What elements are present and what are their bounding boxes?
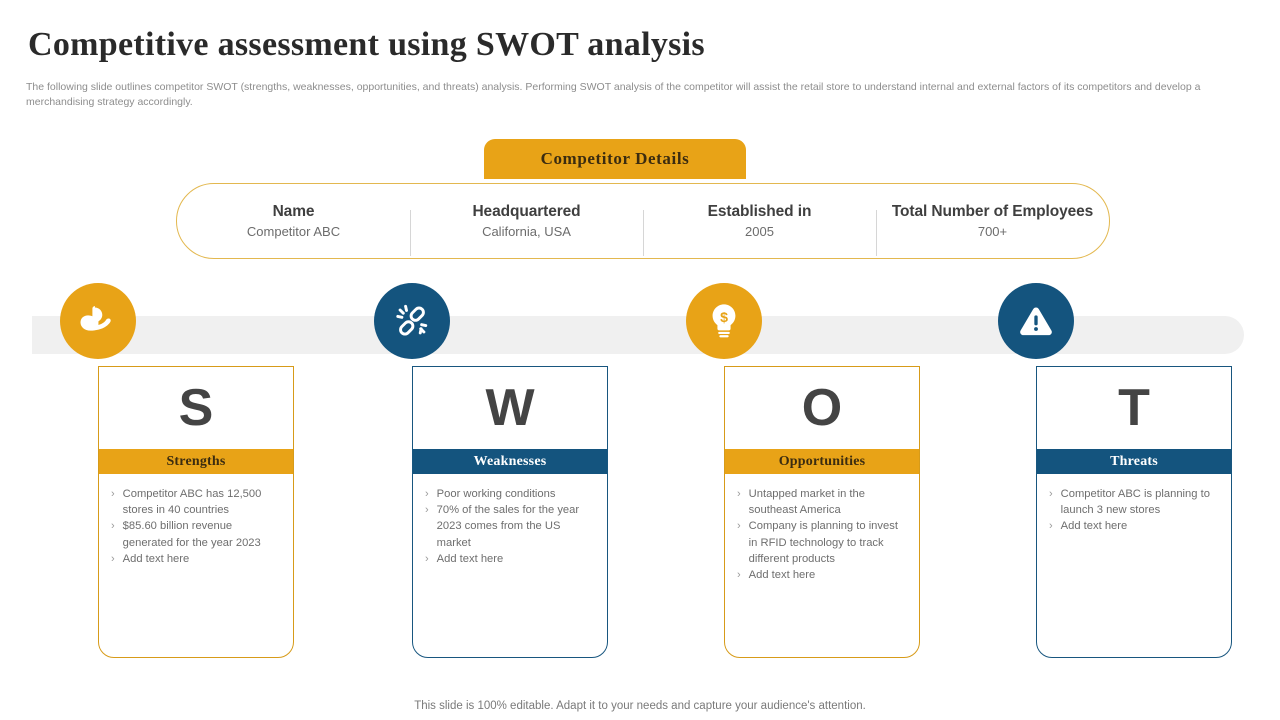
- bullet-marker: ›: [737, 567, 741, 583]
- list-item: › Untapped market in the southeast Ameri…: [737, 486, 909, 518]
- list-item: › Company is planning to invest in RFID …: [737, 518, 909, 567]
- competitor-details-bar: Name Competitor ABC Headquartered Califo…: [176, 183, 1110, 259]
- detail-label: Total Number of Employees: [882, 201, 1103, 222]
- detail-value: 700+: [882, 222, 1103, 242]
- bullet-text: Add text here: [1061, 518, 1221, 534]
- swot-card-opportunities: O Opportunities › Untapped market in the…: [724, 366, 920, 658]
- list-item: › Add text here: [1049, 518, 1221, 534]
- bullet-marker: ›: [111, 518, 115, 534]
- bullet-text: $85.60 billion revenue generated for the…: [123, 518, 283, 550]
- svg-text:$: $: [720, 310, 728, 326]
- bullet-text: Competitor ABC has 12,500 stores in 40 c…: [123, 486, 283, 518]
- swot-card-title: Strengths: [99, 449, 293, 474]
- swot-card-body: › Poor working conditions › 70% of the s…: [413, 474, 607, 567]
- list-item: › $85.60 billion revenue generated for t…: [111, 518, 283, 550]
- swot-slide: Competitive assessment using SWOT analys…: [0, 0, 1280, 720]
- competitor-details-tab: Competitor Details: [484, 139, 746, 179]
- bullet-marker: ›: [737, 486, 741, 502]
- list-item: › Competitor ABC has 12,500 stores in 40…: [111, 486, 283, 518]
- swot-card-weaknesses: W Weaknesses › Poor working conditions ›…: [412, 366, 608, 658]
- detail-cell-name: Name Competitor ABC: [177, 201, 410, 242]
- bullet-text: Add text here: [123, 551, 283, 567]
- swot-card-title: Threats: [1037, 449, 1231, 474]
- detail-cell-employees: Total Number of Employees 700+: [876, 201, 1109, 242]
- list-item: › Add text here: [737, 567, 909, 583]
- bullet-marker: ›: [425, 486, 429, 502]
- competitor-details-tab-label: Competitor Details: [541, 149, 690, 169]
- detail-label: Headquartered: [416, 201, 637, 222]
- bullet-marker: ›: [425, 502, 429, 518]
- detail-value: Competitor ABC: [183, 222, 404, 242]
- detail-value: 2005: [649, 222, 870, 242]
- bullet-marker: ›: [1049, 518, 1053, 534]
- page-subtitle: The following slide outlines competitor …: [26, 80, 1236, 110]
- detail-cell-established: Established in 2005: [643, 201, 876, 242]
- bullet-text: Company is planning to invest in RFID te…: [749, 518, 909, 567]
- page-title: Competitive assessment using SWOT analys…: [28, 26, 705, 64]
- detail-label: Established in: [649, 201, 870, 222]
- list-item: › 70% of the sales for the year 2023 com…: [425, 502, 597, 551]
- bullet-text: 70% of the sales for the year 2023 comes…: [437, 502, 597, 551]
- swot-card-letter: W: [413, 367, 607, 449]
- flexed-bicep-icon: [60, 283, 136, 359]
- swot-card-letter: T: [1037, 367, 1231, 449]
- lightbulb-dollar-icon: $: [686, 283, 762, 359]
- footer-note: This slide is 100% editable. Adapt it to…: [0, 700, 1280, 712]
- bullet-marker: ›: [1049, 486, 1053, 502]
- bullet-marker: ›: [111, 551, 115, 567]
- swot-card-letter: O: [725, 367, 919, 449]
- swot-card-letter: S: [99, 367, 293, 449]
- list-item: › Add text here: [111, 551, 283, 567]
- bullet-text: Untapped market in the southeast America: [749, 486, 909, 518]
- list-item: › Competitor ABC is planning to launch 3…: [1049, 486, 1221, 518]
- detail-cell-headquartered: Headquartered California, USA: [410, 201, 643, 242]
- bullet-text: Add text here: [749, 567, 909, 583]
- swot-card-threats: T Threats › Competitor ABC is planning t…: [1036, 366, 1232, 658]
- swot-card-strengths: S Strengths › Competitor ABC has 12,500 …: [98, 366, 294, 658]
- bullet-marker: ›: [111, 486, 115, 502]
- list-item: › Add text here: [425, 551, 597, 567]
- bullet-marker: ›: [737, 518, 741, 534]
- swot-card-title: Opportunities: [725, 449, 919, 474]
- broken-chain-icon: [374, 283, 450, 359]
- detail-value: California, USA: [416, 222, 637, 242]
- swot-card-body: › Competitor ABC is planning to launch 3…: [1037, 474, 1231, 535]
- bullet-text: Competitor ABC is planning to launch 3 n…: [1061, 486, 1221, 518]
- bullet-marker: ›: [425, 551, 429, 567]
- swot-card-body: › Untapped market in the southeast Ameri…: [725, 474, 919, 583]
- warning-triangle-icon: [998, 283, 1074, 359]
- list-item: › Poor working conditions: [425, 486, 597, 502]
- swot-card-title: Weaknesses: [413, 449, 607, 474]
- swot-card-body: › Competitor ABC has 12,500 stores in 40…: [99, 474, 293, 567]
- bullet-text: Poor working conditions: [437, 486, 597, 502]
- bullet-text: Add text here: [437, 551, 597, 567]
- detail-label: Name: [183, 201, 404, 222]
